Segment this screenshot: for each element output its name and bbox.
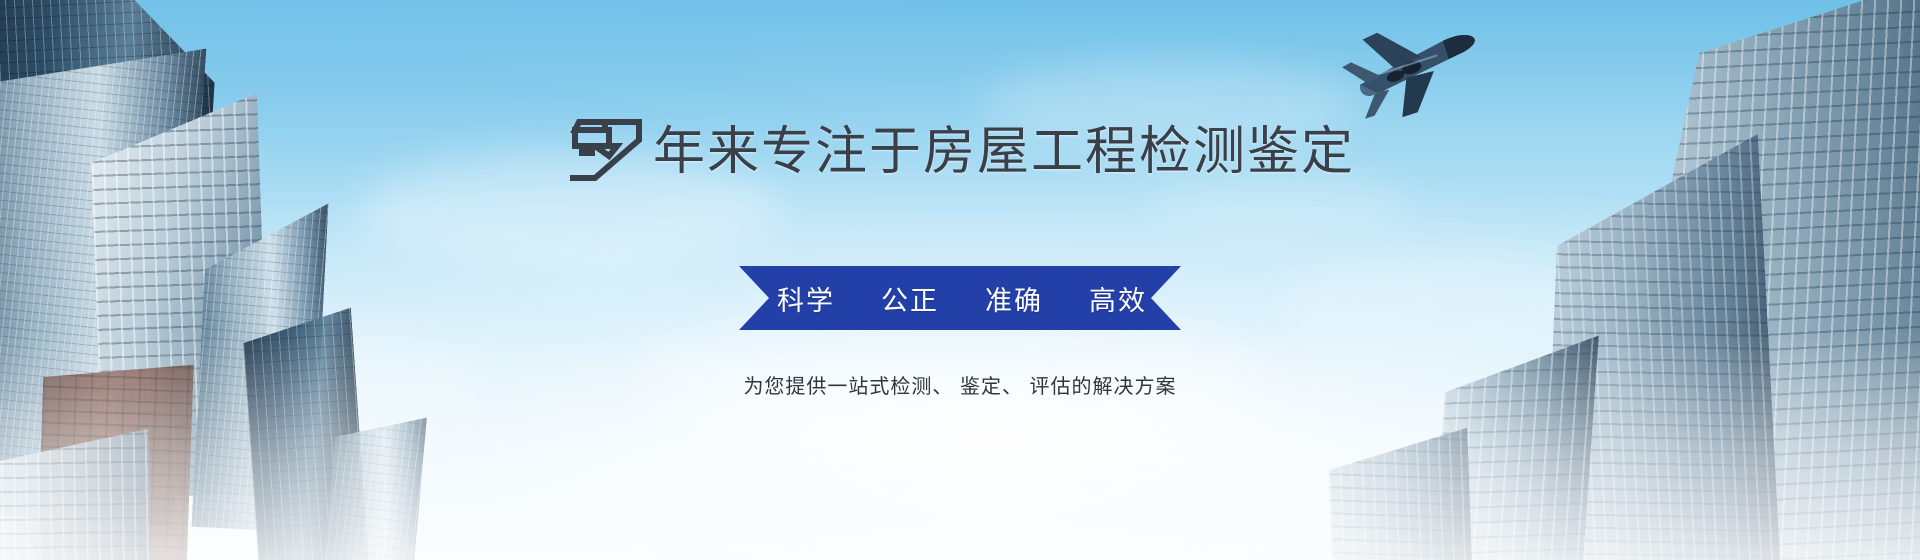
ribbon-item-kexue: 科学 (777, 279, 835, 318)
ribbon-item-gongzheng: 公正 (881, 279, 939, 318)
ribbon-item-zhunque: 准确 (985, 279, 1043, 318)
ribbon-items: 科学 公正 准确 高效 (739, 266, 1181, 330)
ribbon-item-gaoxiao: 高效 (1089, 279, 1147, 318)
headline: 年来专注于房屋工程检测鉴定 (0, 116, 1920, 188)
hero-banner: 年来专注于房屋工程检测鉴定 科学 公正 准确 高效 为您提供一站式检测、 鉴定、… (0, 0, 1920, 560)
headline-text: 年来专注于房屋工程检测鉴定 (653, 121, 1355, 183)
subtitle: 为您提供一站式检测、 鉴定、 评估的解决方案 (0, 370, 1920, 399)
duo-outlined-mark-icon (565, 116, 649, 188)
slogan-ribbon: 科学 公正 准确 高效 (739, 266, 1181, 330)
horizon-haze (0, 330, 1920, 560)
